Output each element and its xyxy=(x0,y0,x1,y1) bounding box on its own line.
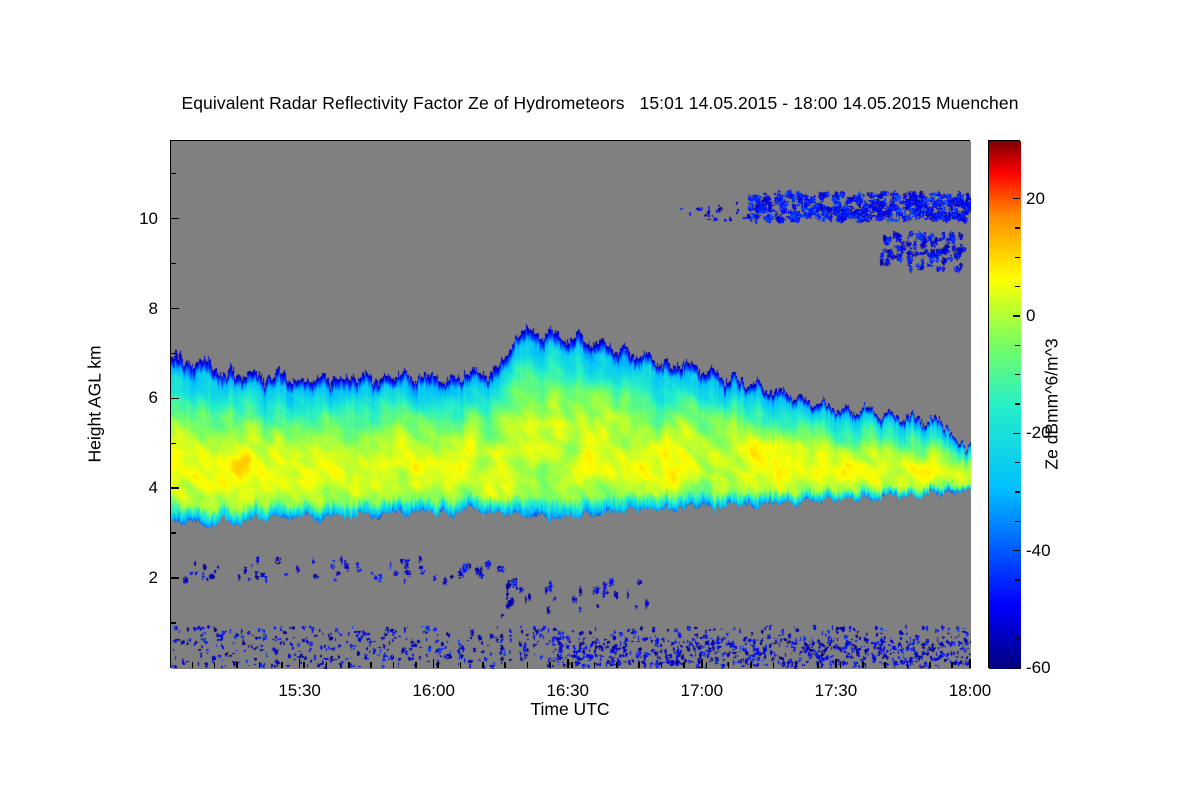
colorbar-tick-mark xyxy=(1013,198,1020,200)
radar-heatmap-canvas[interactable] xyxy=(171,141,971,669)
x-tick-minor xyxy=(661,662,663,668)
x-tick-minor xyxy=(907,662,909,668)
x-tick-minor xyxy=(571,662,573,668)
x-tick-minor xyxy=(929,662,931,668)
x-tick-minor xyxy=(884,662,886,668)
colorbar-tick-minor xyxy=(1015,638,1020,640)
y-tick-label: 10 xyxy=(124,209,158,229)
colorbar-tick-mark xyxy=(1013,667,1020,669)
y-tick-mark xyxy=(170,218,179,220)
x-tick-minor xyxy=(437,662,439,668)
x-tick-minor xyxy=(482,662,484,668)
x-tick-minor xyxy=(795,662,797,668)
colorbar-gradient xyxy=(989,141,1021,669)
y-tick-minor xyxy=(170,443,176,445)
y-tick-minor xyxy=(170,263,176,265)
colorbar-tick-minor xyxy=(1015,286,1020,288)
x-tick-minor xyxy=(259,662,261,668)
colorbar-title: Ze dBmm^6/m^3 xyxy=(1042,338,1063,469)
colorbar-tick-mark xyxy=(1013,550,1020,552)
y-tick-minor xyxy=(170,173,176,175)
x-tick-mark xyxy=(969,659,971,668)
colorbar-tick-minor xyxy=(1015,257,1020,259)
colorbar-tick-minor xyxy=(1015,491,1020,493)
colorbar-tick-mark xyxy=(1013,433,1020,435)
plot-area[interactable] xyxy=(170,140,970,668)
x-tick-minor xyxy=(326,662,328,668)
x-tick-minor xyxy=(750,662,752,668)
x-tick-mark xyxy=(835,659,837,668)
y-tick-label: 4 xyxy=(124,478,158,498)
x-axis-title: Time UTC xyxy=(170,699,970,720)
y-tick-mark xyxy=(170,308,179,310)
colorbar-tick-minor xyxy=(1015,374,1020,376)
x-tick-minor xyxy=(706,662,708,668)
x-tick-label: 16:00 xyxy=(389,681,479,701)
colorbar-tick-label: -40 xyxy=(1026,541,1051,561)
x-tick-minor xyxy=(862,662,864,668)
x-tick-mark xyxy=(433,659,435,668)
y-tick-label: 2 xyxy=(124,568,158,588)
x-tick-minor xyxy=(348,662,350,668)
x-tick-minor xyxy=(370,662,372,668)
x-tick-minor xyxy=(303,662,305,668)
x-tick-minor xyxy=(504,662,506,668)
colorbar-tick-minor xyxy=(1015,462,1020,464)
y-tick-mark xyxy=(170,398,179,400)
x-tick-label: 17:30 xyxy=(791,681,881,701)
y-axis-title: Height AGL km xyxy=(85,345,106,462)
y-tick-minor xyxy=(170,353,176,355)
x-tick-minor xyxy=(192,662,194,668)
page-title: Equivalent Radar Reflectivity Factor Ze … xyxy=(0,93,1200,114)
y-tick-label: 8 xyxy=(124,299,158,319)
x-tick-mark xyxy=(701,659,703,668)
y-tick-label: 6 xyxy=(124,388,158,408)
y-tick-mark xyxy=(170,577,179,579)
x-tick-minor xyxy=(616,662,618,668)
x-tick-minor xyxy=(728,662,730,668)
colorbar-tick-minor xyxy=(1015,169,1020,171)
x-tick-minor xyxy=(214,662,216,668)
colorbar-tick-minor xyxy=(1015,403,1020,405)
colorbar-tick-mark xyxy=(1013,315,1020,317)
x-tick-label: 18:00 xyxy=(925,681,1015,701)
colorbar-tick-label: 0 xyxy=(1026,306,1035,326)
x-tick-label: 15:30 xyxy=(255,681,345,701)
x-tick-mark xyxy=(299,659,301,668)
x-tick-minor xyxy=(951,662,953,668)
x-tick-label: 16:30 xyxy=(523,681,613,701)
x-tick-minor xyxy=(817,662,819,668)
x-tick-minor xyxy=(683,662,685,668)
x-tick-minor xyxy=(281,662,283,668)
colorbar-tick-label: -60 xyxy=(1026,658,1051,678)
x-tick-minor xyxy=(638,662,640,668)
x-tick-minor xyxy=(549,662,551,668)
x-tick-minor xyxy=(773,662,775,668)
x-tick-minor xyxy=(840,662,842,668)
colorbar-tick-minor xyxy=(1015,609,1020,611)
x-tick-minor xyxy=(393,662,395,668)
colorbar-tick-minor xyxy=(1015,521,1020,523)
y-tick-minor xyxy=(170,532,176,534)
colorbar-tick-minor xyxy=(1015,345,1020,347)
x-tick-minor xyxy=(594,662,596,668)
x-tick-minor xyxy=(527,662,529,668)
x-tick-minor xyxy=(460,662,462,668)
x-tick-label: 17:00 xyxy=(657,681,747,701)
colorbar-tick-minor xyxy=(1015,227,1020,229)
x-tick-minor xyxy=(415,662,417,668)
colorbar-tick-label: 20 xyxy=(1026,189,1045,209)
y-tick-mark xyxy=(170,487,179,489)
x-tick-mark xyxy=(567,659,569,668)
y-tick-minor xyxy=(170,622,176,624)
x-tick-minor xyxy=(236,662,238,668)
radar-figure: Equivalent Radar Reflectivity Factor Ze … xyxy=(0,0,1200,800)
colorbar-tick-minor xyxy=(1015,579,1020,581)
